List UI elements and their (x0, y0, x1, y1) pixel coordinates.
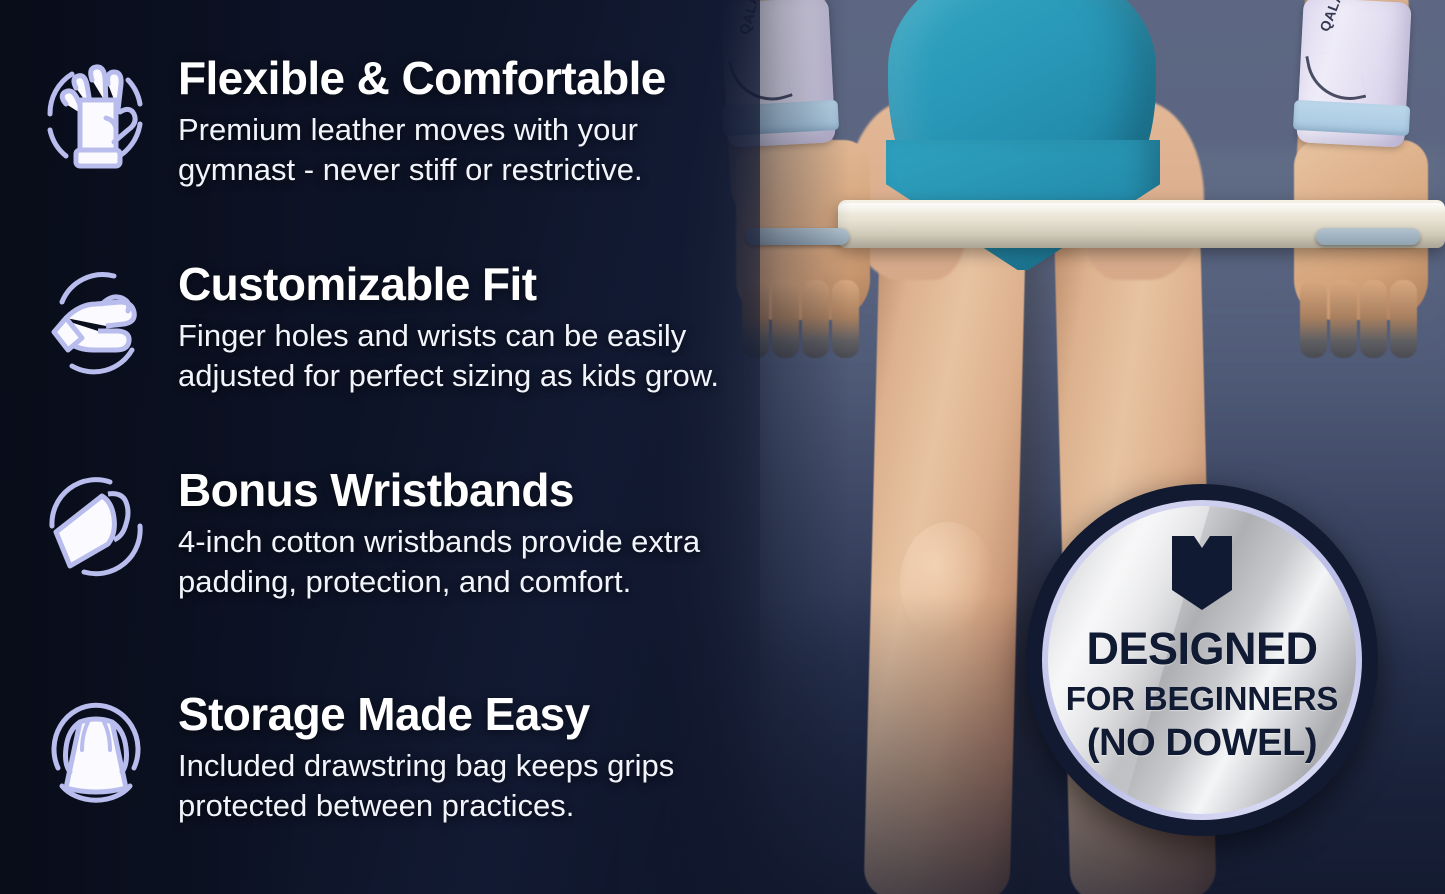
feature-item-customizable-fit: Customizable Fit Finger holes and wrists… (0, 258, 719, 396)
feature-item-bonus-wristbands: Bonus Wristbands 4-inch cotton wristband… (0, 464, 700, 602)
feature-title: Storage Made Easy (178, 690, 674, 739)
wristband-blue-strap (1293, 100, 1410, 136)
feature-text-block: Flexible & Comfortable Premium leather m… (178, 52, 666, 190)
badge-line-3: (NO DOWEL) (1087, 724, 1317, 762)
gymnastics-glove-icon (36, 56, 156, 176)
wristband-right: QALARO (1296, 0, 1411, 148)
grip-strap-right (1316, 228, 1420, 245)
badge-line-1: DESIGNED (1086, 626, 1317, 671)
infographic-canvas: QALARO QALARO (0, 0, 1445, 894)
finger (1360, 280, 1387, 358)
feature-text-block: Bonus Wristbands 4-inch cotton wristband… (178, 464, 700, 602)
gripping-hand-icon (36, 262, 156, 382)
feature-item-flexible-comfortable: Flexible & Comfortable Premium leather m… (0, 52, 666, 190)
ribbon-banner-icon (1170, 534, 1234, 612)
feature-text-block: Customizable Fit Finger holes and wrists… (178, 258, 719, 396)
feature-description: 4-inch cotton wristbands provide extra p… (178, 522, 700, 603)
feature-text-block: Storage Made Easy Included drawstring ba… (178, 688, 674, 826)
wristband-swoosh-icon (1305, 47, 1366, 108)
badge-line-2: FOR BEGINNERS (1066, 682, 1338, 715)
feature-description: Included drawstring bag keeps grips prot… (178, 746, 674, 827)
finger (1390, 280, 1417, 358)
wristband-brand-label: QALARO (1316, 0, 1354, 34)
badge-content: DESIGNED FOR BEGINNERS (NO DOWEL) (1048, 506, 1356, 814)
feature-title: Bonus Wristbands (178, 466, 700, 515)
finger (1330, 280, 1357, 358)
drawstring-bag-icon (36, 692, 156, 812)
bar-highlight (838, 203, 1445, 215)
feature-item-storage-made-easy: Storage Made Easy Included drawstring ba… (0, 688, 674, 826)
feature-description: Finger holes and wrists can be easily ad… (178, 316, 719, 397)
feature-title: Customizable Fit (178, 260, 719, 309)
wristband-icon (36, 468, 156, 588)
badge-silver-face: DESIGNED FOR BEGINNERS (NO DOWEL) (1048, 506, 1356, 814)
designed-for-beginners-badge: DESIGNED FOR BEGINNERS (NO DOWEL) (1026, 484, 1378, 836)
feature-description: Premium leather moves with your gymnast … (178, 110, 666, 191)
finger (1300, 280, 1327, 358)
feature-title: Flexible & Comfortable (178, 54, 666, 103)
